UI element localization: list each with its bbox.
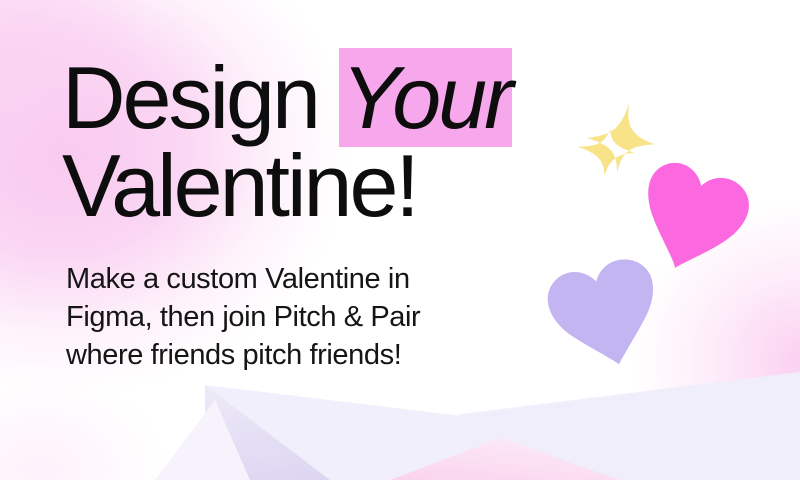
- headline-line-1: Design Your: [62, 52, 582, 144]
- subcopy-line-3: where friends pitch friends!: [66, 336, 582, 374]
- polygon-lavender-right: [462, 372, 800, 480]
- polygon-lavender-wedge: [205, 385, 480, 480]
- polygon-pink-triangle: [390, 438, 620, 480]
- valentine-promo-poster: Design Your Valentine! Make a custom Val…: [0, 0, 800, 480]
- headline-text-plain: Design: [62, 48, 339, 147]
- headline-highlight-your: Your: [339, 48, 512, 147]
- subcopy-line-2: Figma, then join Pitch & Pair: [66, 298, 582, 336]
- polygon-lavender-triangle: [205, 385, 480, 480]
- polygon-lavender-large: [460, 372, 800, 480]
- heart-pink-icon: [628, 155, 758, 283]
- polygon-pale-left: [155, 400, 250, 480]
- subcopy-line-1: Make a custom Valentine in: [66, 260, 582, 298]
- star-sparkle-icon: [578, 102, 654, 188]
- subcopy-block: Make a custom Valentine in Figma, then j…: [66, 260, 582, 374]
- copy-block: Design Your Valentine! Make a custom Val…: [62, 52, 582, 374]
- headline-line-2: Valentine!: [62, 140, 582, 232]
